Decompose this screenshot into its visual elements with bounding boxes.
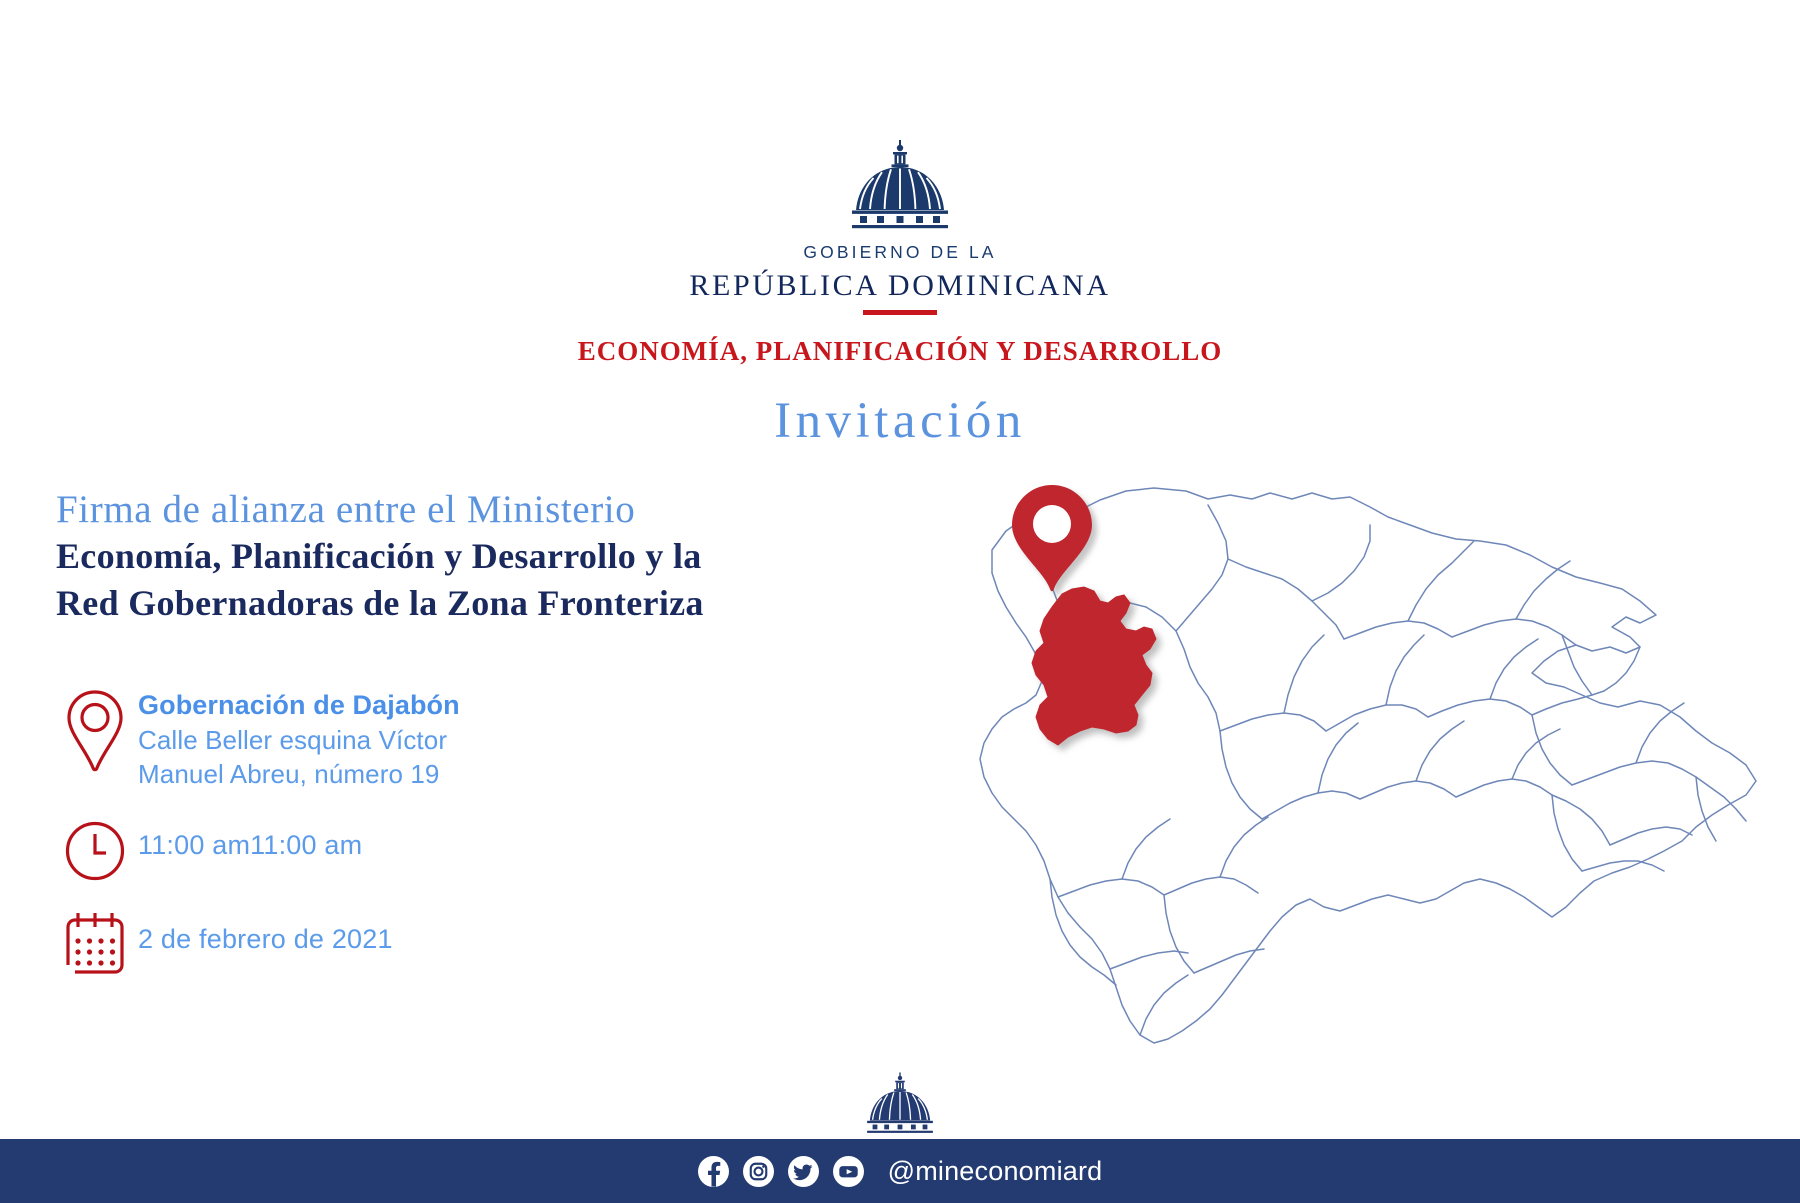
footer-dome-crest-icon: [863, 1072, 937, 1136]
instagram-icon[interactable]: [743, 1156, 774, 1187]
venue-address-line-2: Manuel Abreu, número 19: [138, 757, 460, 791]
date-text-block: 2 de febrero de 2021: [138, 908, 393, 957]
footer-bar: @mineconomiard: [0, 1139, 1800, 1203]
province-outlines: [980, 488, 1756, 1043]
red-divider-rule: [863, 310, 937, 315]
heading-line-3: Red Gobernadoras de la Zona Fronteriza: [56, 580, 936, 627]
location-pin-icon: [64, 688, 126, 774]
calendar-icon: [63, 910, 127, 976]
time-icon-slot: [52, 818, 138, 882]
time-text-block: 11:00 am11:00 am: [138, 818, 362, 863]
youtube-icon[interactable]: [833, 1156, 864, 1187]
map-pin-icon: [1012, 485, 1092, 591]
country-label: REPÚBLICA DOMINICANA: [689, 269, 1110, 303]
ministry-label: ECONOMÍA, PLANIFICACIÓN Y DESARROLLO: [578, 336, 1223, 367]
venue-icon-slot: [52, 686, 138, 774]
invitation-page: GOBIERNO DE LA REPÚBLICA DOMINICANA ECON…: [0, 0, 1800, 1203]
government-label: GOBIERNO DE LA: [803, 242, 996, 263]
province-dajabon-highlight: [1032, 587, 1156, 745]
header-crest-block: GOBIERNO DE LA REPÚBLICA DOMINICANA ECON…: [0, 140, 1800, 367]
date-row: 2 de febrero de 2021: [52, 908, 752, 976]
map-svg: [940, 455, 1780, 1075]
dominican-republic-map: [940, 455, 1780, 1075]
clock-icon: [64, 820, 126, 882]
social-handle: @mineconomiard: [888, 1156, 1103, 1187]
heading-line-1: Firma de alianza entre el Ministerio: [56, 487, 936, 533]
date-value: 2 de febrero de 2021: [138, 922, 393, 957]
date-icon-slot: [52, 908, 138, 976]
venue-address-line-1: Calle Beller esquina Víctor: [138, 723, 460, 757]
venue-name: Gobernación de Dajabón: [138, 688, 460, 723]
twitter-icon[interactable]: [788, 1156, 819, 1187]
venue-text-block: Gobernación de Dajabón Calle Beller esqu…: [138, 686, 460, 792]
page-title: Invitación: [0, 392, 1800, 450]
venue-row: Gobernación de Dajabón Calle Beller esqu…: [52, 686, 752, 792]
facebook-icon[interactable]: [698, 1156, 729, 1187]
event-details-list: Gobernación de Dajabón Calle Beller esqu…: [52, 686, 752, 1002]
heading-line-2: Economía, Planificación y Desarrollo y l…: [56, 533, 936, 580]
event-heading-block: Firma de alianza entre el Ministerio Eco…: [56, 487, 936, 627]
dominican-dome-crest-icon: [846, 140, 954, 232]
time-row: 11:00 am11:00 am: [52, 818, 752, 882]
time-value: 11:00 am11:00 am: [138, 828, 362, 863]
